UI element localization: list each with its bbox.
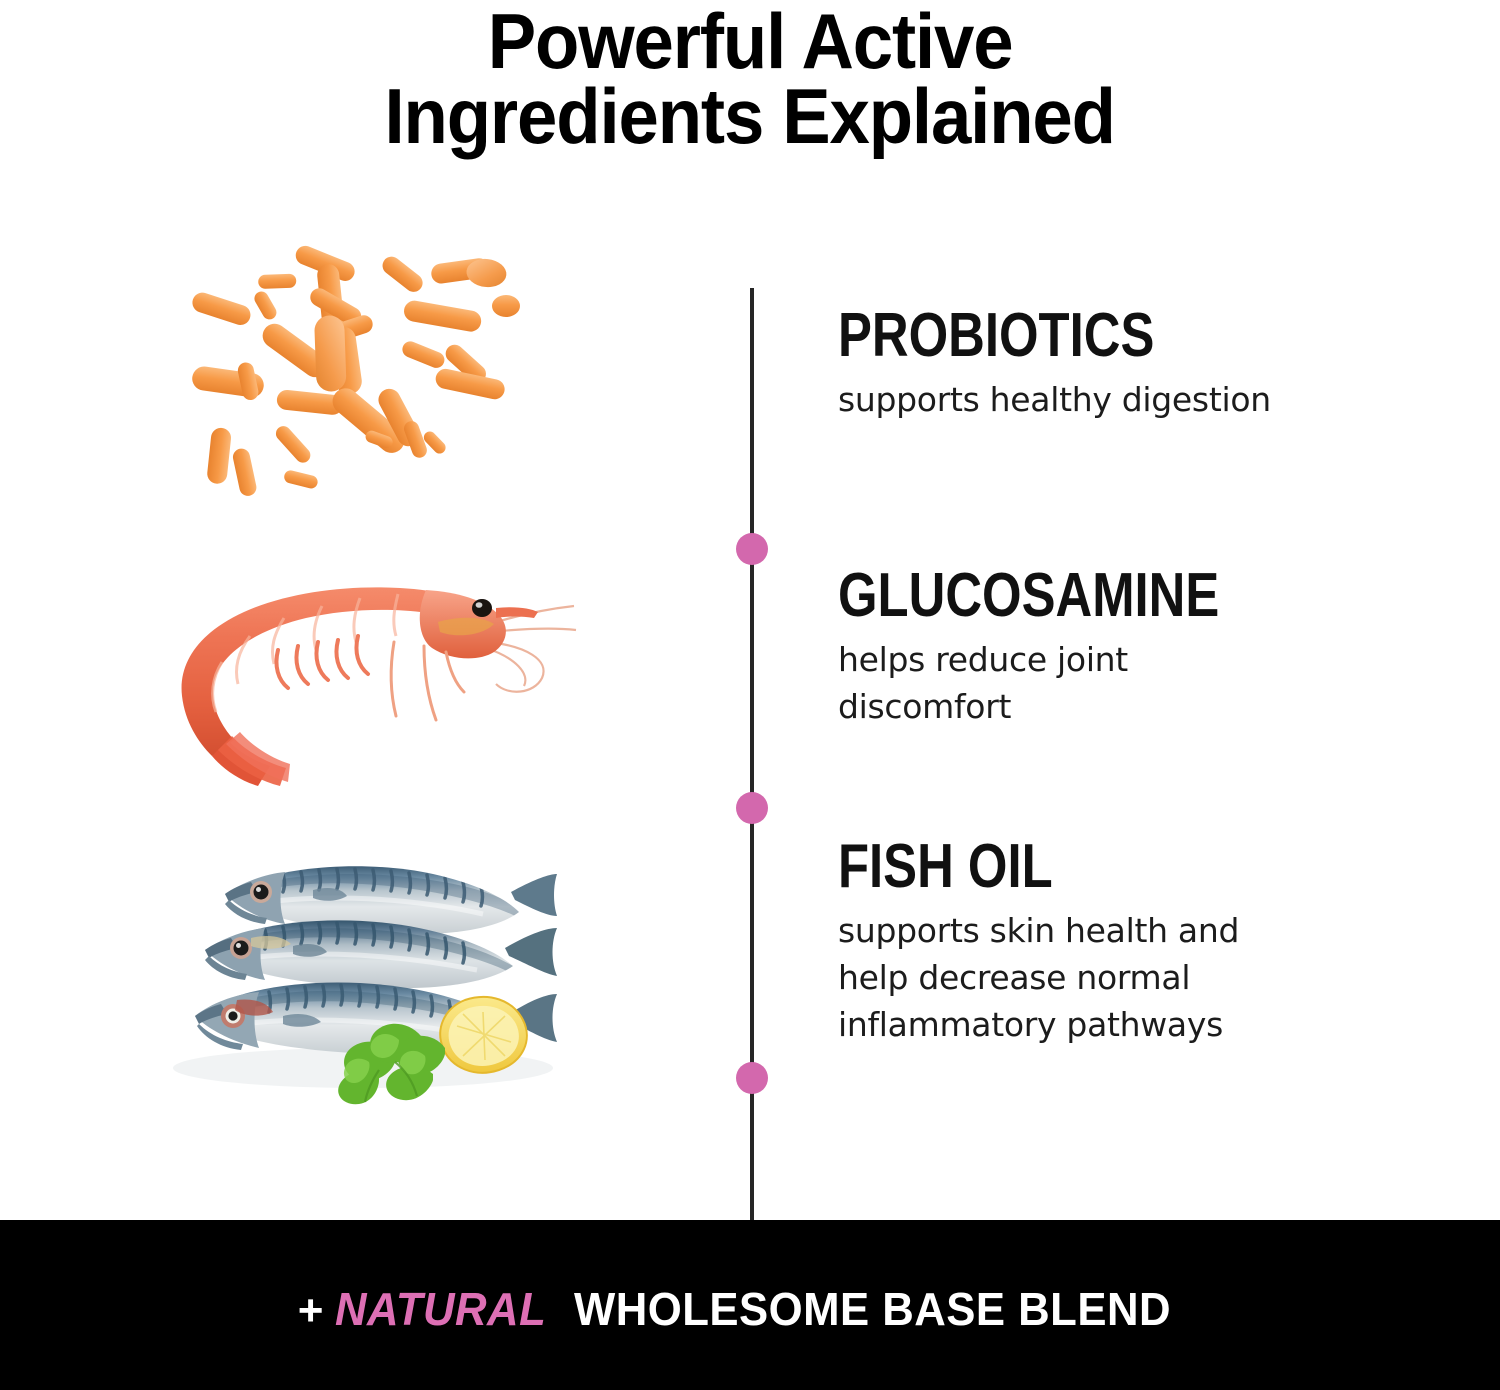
page-title: Powerful Active Ingredients Explained xyxy=(0,0,1500,200)
cooked-shrimp-icon xyxy=(138,550,578,800)
ingredient-image-column xyxy=(0,200,715,1220)
timeline-bullet-glucosamine xyxy=(736,792,768,824)
timeline-bullet-probiotics xyxy=(736,533,768,565)
glucosamine-image xyxy=(0,540,715,810)
probiotic-bacteria-rods-icon xyxy=(168,233,548,513)
ingredient-text-column: PROBIOTICS supports healthy digestion GL… xyxy=(838,200,1438,1220)
page-title-line-1: Powerful Active xyxy=(488,4,1013,79)
infographic-page: Powerful Active Ingredients Explained xyxy=(0,0,1500,1390)
mackerel-fish-icon xyxy=(133,830,583,1110)
ingredients-section: PROBIOTICS supports healthy digestion GL… xyxy=(0,200,1500,1220)
ingredient-item-probiotics: PROBIOTICS supports healthy digestion xyxy=(838,305,1438,424)
ingredient-description-probiotics: supports healthy digestion xyxy=(838,377,1308,424)
fish-oil-image xyxy=(0,825,715,1115)
timeline-bullet-fish-oil xyxy=(736,1062,768,1094)
banner-accent-word: NATURAL xyxy=(335,1282,561,1336)
banner-plus-symbol: + xyxy=(298,1286,336,1336)
base-blend-banner: + NATURAL WHOLESOME BASE BLEND xyxy=(0,1220,1500,1390)
ingredient-item-fish-oil: FISH OIL supports skin health and help d… xyxy=(838,836,1438,1049)
banner-main-text: WHOLESOME BASE BLEND xyxy=(574,1282,1171,1336)
ingredient-item-glucosamine: GLUCOSAMINE helps reduce joint discomfor… xyxy=(838,565,1438,731)
ingredient-description-fish-oil: supports skin health and help decrease n… xyxy=(838,908,1308,1049)
ingredient-name-glucosamine: GLUCOSAMINE xyxy=(838,565,1330,627)
ingredient-name-fish-oil: FISH OIL xyxy=(838,836,1330,898)
lemon-slice-icon xyxy=(440,997,527,1073)
probiotics-image xyxy=(0,228,715,518)
fish-2 xyxy=(205,920,557,988)
page-title-line-2: Ingredients Explained xyxy=(385,79,1115,154)
banner-text-group: + NATURAL WHOLESOME BASE BLEND xyxy=(298,1282,1203,1336)
ingredient-description-glucosamine: helps reduce joint discomfort xyxy=(838,637,1308,731)
ingredient-name-probiotics: PROBIOTICS xyxy=(838,305,1330,367)
